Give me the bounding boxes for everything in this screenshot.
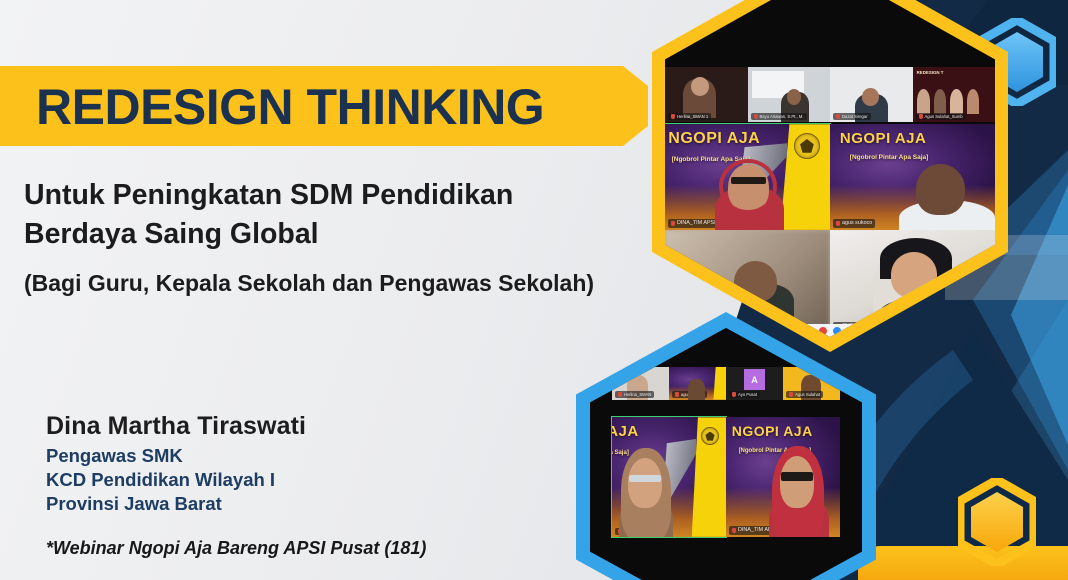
zoom-strip-tile: agus sukoco — [669, 367, 726, 400]
participant-name: Agus Sulahat_Sumb — [916, 113, 966, 120]
zoom-main-tile: AJA a Saja] — [612, 417, 726, 536]
hexagon-photo-bottom: Herlina_SMAN agus sukoco A Ayo Pusat — [576, 312, 876, 580]
zoom-strip-tile: Bayu Ariawan, S.Pt., M. — [748, 67, 831, 123]
mic-muted-icon — [836, 114, 840, 119]
presenter-name: Dina Martha Tiraswati — [46, 412, 306, 441]
organization-seal-icon — [794, 133, 820, 159]
ngopi-title: NGOPI AJA — [840, 130, 926, 147]
mic-muted-icon — [919, 114, 923, 119]
ngopi-subtitle: a Saja] — [612, 450, 629, 456]
presenter-role-line-1: Pengawas SMK — [46, 444, 306, 468]
ngopi-aja-slide: AJA a Saja] — [612, 417, 726, 536]
zoom-main-tile: NGOPI AJA [Ngobrol Pintar Apa Saja] DINA… — [665, 124, 830, 229]
mic-muted-icon — [618, 392, 622, 397]
mic-muted-icon — [789, 392, 793, 397]
mic-muted-icon — [836, 221, 840, 226]
page-title: REDESIGN THINKING — [36, 70, 544, 144]
mic-muted-icon — [675, 392, 679, 397]
avatar-face — [628, 458, 662, 508]
subheadline-line-2: Berdaya Saing Global — [24, 215, 654, 254]
subheadline-line-1: Untuk Peningkatan SDM Pendidikan — [24, 176, 654, 215]
zoom-main-tile: NGOPI AJA [Ngobrol Pintar Apa Saja] DINA… — [726, 417, 840, 536]
mic-muted-icon — [671, 221, 675, 226]
avatar-face — [916, 164, 966, 215]
ngopi-aja-slide: NGOPI AJA [Ngobrol Pintar Apa Saja] — [726, 417, 840, 536]
hexagon-photo-top: Herlina_SMAN 1 Bayu Ariawan, S.Pt., M. — [652, 0, 1008, 352]
avatar-initial: A — [744, 369, 765, 389]
avatar-face — [780, 456, 814, 508]
presenter-role: Pengawas SMK KCD Pendidikan Wilayah I Pr… — [46, 444, 306, 516]
zoom-strip-tile: REDESIGN T Agus Sulahat_Sumb — [913, 67, 996, 123]
hexagon-outline-yellow-icon — [958, 478, 1036, 566]
presentation-slide: REDESIGN THINKING Untuk Peningkatan SDM … — [0, 0, 1068, 580]
ngopi-aja-slide: NGOPI AJA [Ngobrol Pintar Apa Saja] — [665, 124, 830, 229]
ngopi-title: AJA — [612, 423, 639, 440]
ngopi-subtitle: [Ngobrol Pintar Apa Saja] — [850, 154, 929, 161]
presenter-block: Dina Martha Tiraswati Pengawas SMK KCD P… — [46, 412, 306, 516]
ngopi-aja-slide: NGOPI AJA [Ngobrol Pintar Apa Saja] — [830, 124, 995, 229]
mic-muted-icon — [671, 114, 675, 119]
participant-name: Bayu Ariawan, S.Pt., M. — [751, 113, 807, 120]
participant-name: Dazat Siregar — [833, 113, 871, 120]
participant-name: Herlina_SMAN — [615, 391, 655, 398]
audience-note: (Bagi Guru, Kepala Sekolah dan Pengawas … — [24, 270, 664, 297]
presenter-role-line-2: KCD Pendidikan Wilayah I — [46, 468, 306, 492]
zoom-main-tile: NGOPI AJA [Ngobrol Pintar Apa Saja] agus… — [830, 124, 995, 229]
subheadline: Untuk Peningkatan SDM Pendidikan Berdaya… — [24, 176, 654, 254]
zoom-strip-tile: Dazat Siregar — [830, 67, 913, 123]
mic-muted-icon — [732, 392, 736, 397]
mic-muted-icon — [754, 114, 758, 119]
ngopi-title: NGOPI AJA — [732, 423, 813, 439]
participant-name: Ayo Pusat — [729, 391, 760, 398]
zoom-strip-tile: Herlina_SMAN 1 — [665, 67, 748, 123]
participant-name: Agus Sulahat — [786, 391, 823, 398]
mic-muted-icon — [732, 528, 736, 533]
presenter-role-line-3: Provinsi Jawa Barat — [46, 492, 306, 516]
zoom-strip-tile: A Ayo Pusat — [726, 367, 783, 400]
participant-name: agus sukoco — [833, 219, 875, 228]
ngopi-title: NGOPI AJA — [668, 130, 760, 148]
webinar-footnote: *Webinar Ngopi Aja Bareng APSI Pusat (18… — [46, 538, 426, 559]
participant-name: Herlina_SMAN 1 — [668, 113, 711, 120]
